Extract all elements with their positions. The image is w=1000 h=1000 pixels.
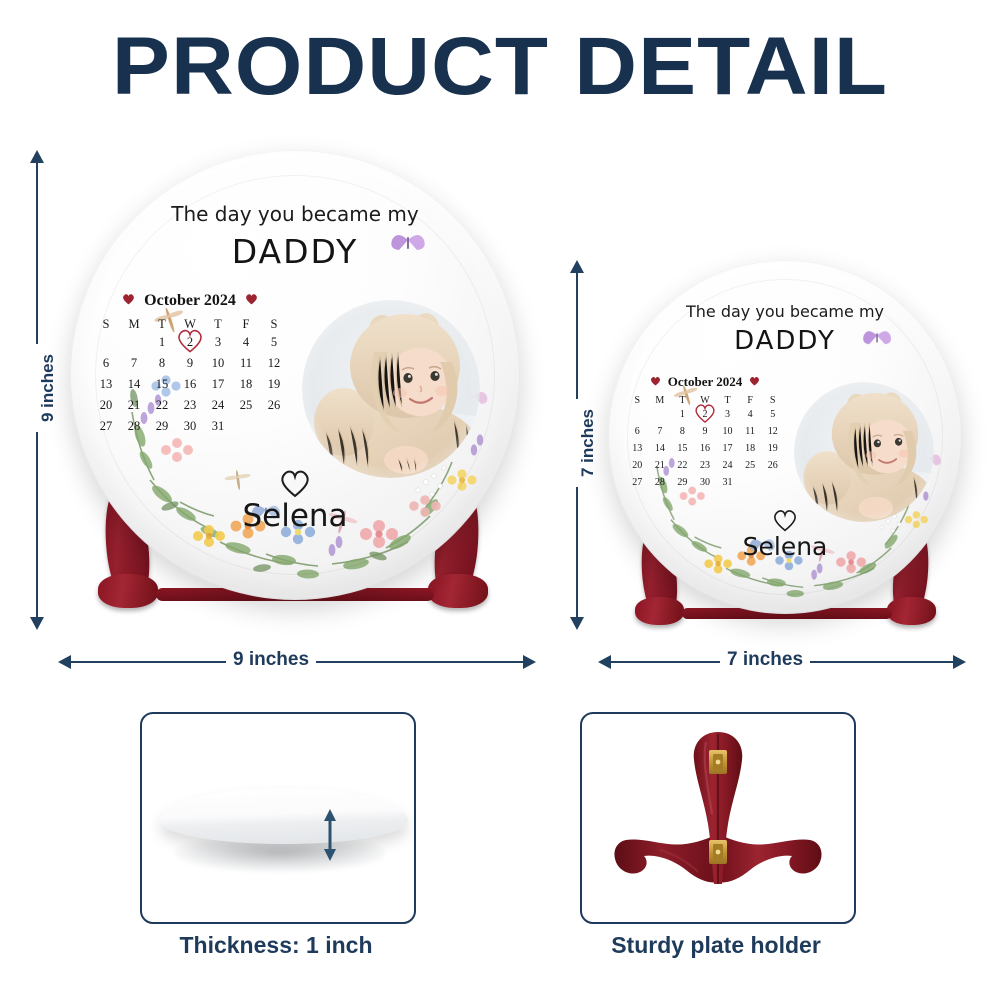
- calendar-day: 8: [148, 353, 176, 374]
- calendar-day: 9: [694, 423, 717, 440]
- small-plate-width-dimension: 7 inches: [598, 655, 966, 671]
- stand-foot-left: [98, 574, 158, 608]
- calendar-day: 10: [204, 353, 232, 374]
- weekday-header: T: [716, 395, 739, 406]
- calendar-day: 5: [761, 406, 784, 423]
- calendar-day: 7: [120, 353, 148, 374]
- calendar-day: 7: [649, 423, 672, 440]
- calendar-day-highlighted: 2: [176, 332, 204, 353]
- calendar-day: 24: [716, 457, 739, 474]
- calendar-day: [649, 406, 672, 423]
- plate-side-profile: [160, 788, 408, 844]
- large-plate-assembly: The day you became my DADDY October 2024: [60, 150, 530, 630]
- calendar-day: 6: [92, 353, 120, 374]
- holder-panel: [580, 712, 856, 924]
- calendar-day: 22: [148, 395, 176, 416]
- calendar-day: 9: [176, 353, 204, 374]
- calendar-day: 17: [204, 374, 232, 395]
- small-plate-relation: DADDY: [608, 326, 962, 356]
- calendar-week-row: 6 7 8 9 10 11 12: [92, 353, 288, 374]
- calendar-day: 4: [232, 332, 260, 353]
- large-plate-calendar: October 2024 S M T W T F: [92, 292, 288, 437]
- calendar-week-row: 27 28 29 30 31: [92, 416, 288, 437]
- calendar-grid: S M T W T F S 1: [92, 317, 288, 437]
- weekday-header: S: [260, 317, 288, 332]
- baby-photo: [794, 382, 934, 522]
- calendar-day: 28: [120, 416, 148, 437]
- heart-icon-left: [650, 374, 661, 390]
- weekday-header: S: [92, 317, 120, 332]
- calendar-day: 20: [626, 457, 649, 474]
- calendar-day: 19: [260, 374, 288, 395]
- calendar-day: 11: [739, 423, 762, 440]
- calendar-day: 30: [176, 416, 204, 437]
- small-plate: The day you became my DADDY October 2024: [608, 260, 962, 614]
- calendar-day: [120, 332, 148, 353]
- calendar-day: 16: [694, 440, 717, 457]
- calendar-day: [626, 406, 649, 423]
- weekday-header: T: [204, 317, 232, 332]
- arrow-head-right-icon: [523, 655, 536, 669]
- weekday-header: W: [694, 395, 717, 406]
- large-plate-relation: DADDY: [70, 232, 520, 271]
- calendar-header-row: S M T W T F S: [626, 395, 784, 406]
- thickness-arrow: [322, 809, 338, 861]
- large-plate: The day you became my DADDY October 2024: [70, 150, 520, 600]
- weekday-header: S: [761, 395, 784, 406]
- calendar-day: 27: [92, 416, 120, 437]
- small-plate-line1: The day you became my: [608, 302, 962, 321]
- calendar-day: 17: [716, 440, 739, 457]
- calendar-day: [761, 474, 784, 491]
- arrow-head-down-icon: [30, 617, 44, 630]
- calendar-day: 10: [716, 423, 739, 440]
- calendar-header-row: S M T W T F S: [92, 317, 288, 332]
- calendar-day: 15: [671, 440, 694, 457]
- stand-foot-left: [635, 597, 684, 625]
- large-plate-width-dimension: 9 inches: [58, 655, 536, 671]
- calendar-day-value: 2: [702, 409, 707, 420]
- calendar-day: 26: [761, 457, 784, 474]
- calendar-day: 3: [716, 406, 739, 423]
- small-plate-height-dimension: 7 inches: [570, 260, 586, 630]
- calendar-day: 1: [148, 332, 176, 353]
- calendar-title: October 2024: [144, 292, 236, 310]
- calendar-day: 31: [716, 474, 739, 491]
- weekday-header: S: [626, 395, 649, 406]
- calendar-day: 19: [761, 440, 784, 457]
- calendar-day: 5: [260, 332, 288, 353]
- calendar-day: 21: [649, 457, 672, 474]
- calendar-day: 18: [739, 440, 762, 457]
- calendar-day: 13: [92, 374, 120, 395]
- stand-foot-right: [887, 597, 936, 625]
- calendar-day: [260, 416, 288, 437]
- weekday-header: F: [232, 317, 260, 332]
- calendar-day: 12: [260, 353, 288, 374]
- calendar-week-row: 13 14 15 16 17 18 19: [92, 374, 288, 395]
- calendar-title: October 2024: [668, 374, 743, 390]
- calendar-day: 20: [92, 395, 120, 416]
- baby-photo: [302, 300, 480, 478]
- heart-icon-right: [245, 292, 258, 310]
- calendar-week-row: 1 2 3 4 5: [92, 332, 288, 353]
- calendar-title-row: October 2024: [92, 292, 288, 310]
- calendar-week-row: 1 2 3 4 5: [626, 406, 784, 423]
- calendar-day: 29: [148, 416, 176, 437]
- calendar-day: 24: [204, 395, 232, 416]
- calendar-day: 25: [739, 457, 762, 474]
- calendar-day: 18: [232, 374, 260, 395]
- small-plate-assembly: The day you became my DADDY October 2024: [600, 260, 970, 630]
- large-plate-width-label: 9 inches: [226, 649, 316, 671]
- calendar-day: [92, 332, 120, 353]
- calendar-day-value: 2: [187, 335, 193, 349]
- calendar-week-row: 13 14 15 16 17 18 19: [626, 440, 784, 457]
- calendar-day: [232, 416, 260, 437]
- calendar-day: 16: [176, 374, 204, 395]
- calendar-day: 28: [649, 474, 672, 491]
- calendar-week-row: 20 21 22 23 24 25 26: [92, 395, 288, 416]
- calendar-day: 30: [694, 474, 717, 491]
- calendar-day: 11: [232, 353, 260, 374]
- calendar-day: 12: [761, 423, 784, 440]
- page-title: PRODUCT DETAIL: [0, 26, 1000, 108]
- calendar-week-row: 20 21 22 23 24 25 26: [626, 457, 784, 474]
- calendar-day: 3: [204, 332, 232, 353]
- stand-foot-right: [428, 574, 488, 608]
- small-plate-height-label: 7 inches: [575, 399, 601, 487]
- calendar-day: 23: [694, 457, 717, 474]
- weekday-header: W: [176, 317, 204, 332]
- calendar-day: 4: [739, 406, 762, 423]
- calendar-day: 23: [176, 395, 204, 416]
- calendar-day: 25: [232, 395, 260, 416]
- large-plate-name: Selena: [70, 498, 520, 534]
- calendar-day: 8: [671, 423, 694, 440]
- calendar-day: 29: [671, 474, 694, 491]
- calendar-day: 6: [626, 423, 649, 440]
- arrow-head-right-icon: [953, 655, 966, 669]
- calendar-grid: S M T W T F S 1: [626, 395, 784, 491]
- calendar-day: 14: [120, 374, 148, 395]
- calendar-day: 13: [626, 440, 649, 457]
- weekday-header: M: [120, 317, 148, 332]
- large-plate-line1: The day you became my: [70, 202, 520, 226]
- calendar-day: 14: [649, 440, 672, 457]
- heart-icon-right: [749, 374, 760, 390]
- calendar-day: 31: [204, 416, 232, 437]
- calendar-day: 15: [148, 374, 176, 395]
- calendar-day-highlighted: 2: [694, 406, 717, 423]
- holder-caption: Sturdy plate holder: [566, 932, 866, 959]
- calendar-week-row: 27 28 29 30 31: [626, 474, 784, 491]
- weekday-header: T: [671, 395, 694, 406]
- weekday-header: M: [649, 395, 672, 406]
- heart-icon-left: [122, 292, 135, 310]
- calendar-day: 21: [120, 395, 148, 416]
- calendar-day: 22: [671, 457, 694, 474]
- calendar-day: 1: [671, 406, 694, 423]
- calendar-week-row: 6 7 8 9 10 11 12: [626, 423, 784, 440]
- thickness-panel: [140, 712, 416, 924]
- arrow-head-down-icon: [570, 617, 584, 630]
- weekday-header: F: [739, 395, 762, 406]
- small-plate-name: Selena: [608, 532, 962, 561]
- large-plate-height-label: 9 inches: [35, 344, 61, 432]
- large-plate-height-dimension: 9 inches: [30, 150, 46, 630]
- thickness-caption: Thickness: 1 inch: [126, 932, 426, 959]
- small-plate-calendar: October 2024 S M T W T F: [626, 374, 784, 491]
- calendar-title-row: October 2024: [626, 374, 784, 390]
- small-plate-width-label: 7 inches: [720, 649, 810, 671]
- calendar-day: [739, 474, 762, 491]
- calendar-day: 26: [260, 395, 288, 416]
- plate-easel: [582, 714, 854, 922]
- calendar-day: 27: [626, 474, 649, 491]
- weekday-header: T: [148, 317, 176, 332]
- product-detail-page: PRODUCT DETAIL 9 inches 9 inches: [0, 0, 1000, 1000]
